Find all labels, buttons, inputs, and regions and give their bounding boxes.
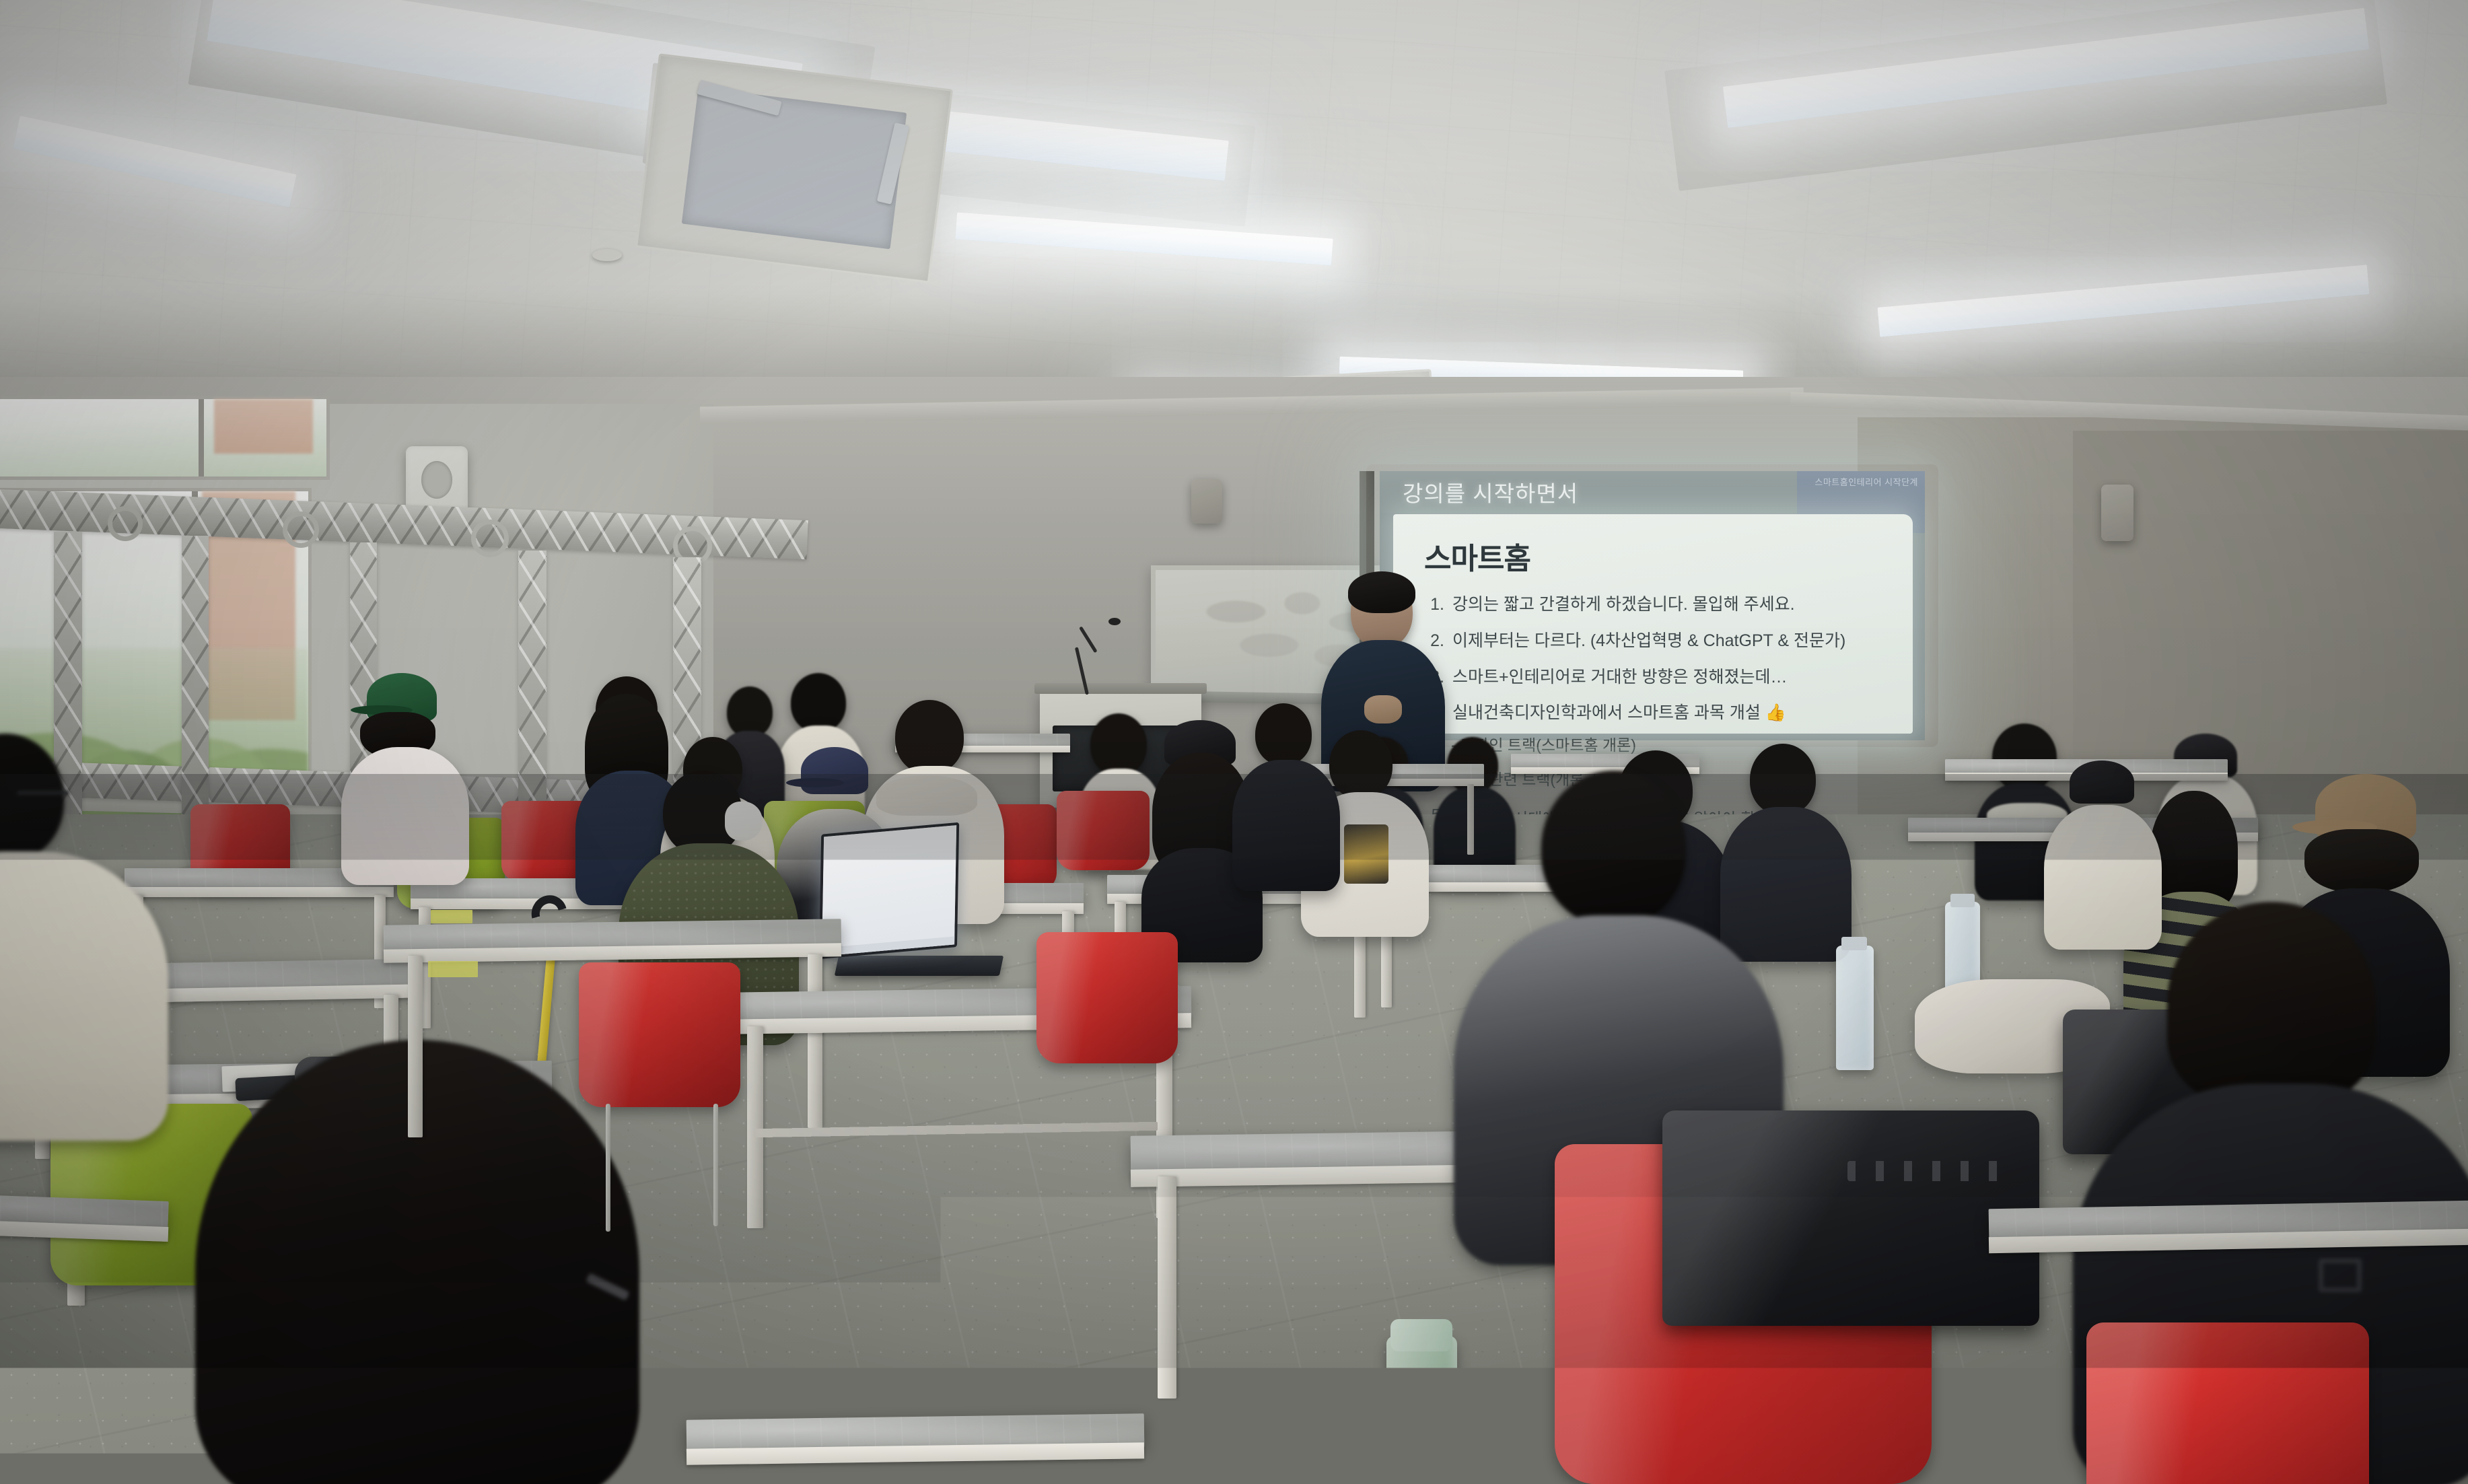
thermos-cap — [1390, 1319, 1452, 1351]
shirt-graphic-print — [1344, 824, 1388, 884]
classroom-photo: 강의를 시작하면서 스마트홈인테리어 시작단계 스마트홈 1. 강의는 짧고 간… — [0, 0, 2468, 1484]
laptop-screen-content — [822, 825, 956, 956]
student-head — [1329, 730, 1392, 799]
slide-bullet: 2. 이제부터는 다르다. (4차산업혁명 & ChatGPT & 전문가) — [1424, 631, 1895, 651]
slide-corner-text: 스마트홈인테리어 시작단계 — [1797, 471, 1925, 488]
student-head — [895, 700, 964, 774]
water-bottle[interactable] — [1836, 946, 1874, 1070]
student-eyeglasses-icon — [17, 791, 69, 799]
slide-content-area: 스마트홈 1. 강의는 짧고 간결하게 하겠습니다. 몰입해 주세요. 2. 이… — [1393, 514, 1913, 734]
slide-bullet-list: 1. 강의는 짧고 간결하게 하겠습니다. 몰입해 주세요. 2. 이제부터는 … — [1424, 595, 1895, 723]
cap-brim — [786, 778, 844, 787]
chair[interactable] — [1057, 791, 1150, 870]
student-head — [1992, 723, 2057, 791]
shirt-logo-icon — [2319, 1259, 2362, 1292]
window-glass — [0, 399, 326, 476]
student-head — [1255, 703, 1312, 765]
student-hair — [2167, 902, 2376, 1104]
ac-diffuser — [635, 53, 953, 283]
desk-edge — [125, 887, 394, 897]
student-head — [791, 673, 846, 732]
desk-leg — [1467, 784, 1474, 855]
smoke-detector-icon — [592, 249, 622, 261]
truss-post — [182, 536, 209, 818]
student-head — [1090, 713, 1147, 775]
lectern-top-edge — [1034, 683, 1207, 694]
truss-ring — [471, 520, 509, 557]
slide-title: 스마트홈 — [1424, 534, 1895, 577]
bottle-cap — [1841, 937, 1867, 950]
microphone-head — [1108, 618, 1121, 625]
ac-diffuser-inner — [681, 87, 907, 249]
student-torso — [1720, 807, 1852, 962]
bag-buckle-row — [1847, 1161, 1999, 1181]
chair-bottom-right[interactable] — [2086, 1322, 2369, 1484]
chair-foreground[interactable] — [579, 962, 740, 1107]
desk-leg — [747, 1026, 763, 1228]
chair-leg — [713, 1104, 718, 1226]
wall-speaker-right — [2101, 485, 2134, 541]
thermos-tumbler[interactable] — [1386, 1336, 1457, 1484]
hoodie-hood — [876, 775, 977, 816]
desk-label-sticker — [428, 961, 478, 977]
bullet-text: 이제부터는 다르다. (4차산업혁명 & ChatGPT & 전문가) — [1452, 631, 1845, 651]
window-view-building — [214, 399, 313, 454]
student-torso — [2044, 805, 2162, 950]
chair-foreground[interactable] — [1036, 932, 1178, 1063]
desk-leg — [408, 956, 423, 1137]
student-head — [727, 686, 773, 738]
slide-bullet: 1. 강의는 짧고 간결하게 하겠습니다. 몰입해 주세요. — [1424, 595, 1895, 614]
slide-bullet: 4. 실내건축디자인학과에서 스마트홈 과목 개설 👍 — [1424, 703, 1895, 723]
student-head — [1541, 771, 1686, 925]
leather-bag — [1662, 1110, 2039, 1326]
window-upper — [0, 396, 330, 480]
student-torso — [1232, 760, 1340, 891]
desk-label-sticker — [431, 910, 472, 923]
slide-sub-item: - 디자인 트랙(스마트홈 개론) — [1451, 732, 1895, 755]
bullet-text: 강의는 짧고 간결하게 하겠습니다. 몰입해 주세요. — [1452, 595, 1795, 614]
student-cap-black — [2070, 761, 2134, 804]
window-mullion — [199, 399, 204, 476]
speaker-cone — [421, 461, 452, 499]
desk-leg — [1158, 1176, 1176, 1399]
bottle-cap — [1950, 894, 1975, 907]
presenter-hair — [1348, 571, 1415, 613]
truss-post — [518, 551, 547, 820]
bullet-text: 스마트+인테리어로 거대한 방향은 정해졌는데… — [1452, 668, 1787, 687]
laptop-keyboard-base[interactable] — [835, 956, 1003, 976]
wall-speaker-center — [1191, 479, 1222, 524]
bullet-text: 실내건축디자인학과에서 스마트홈 과목 개설 👍 — [1452, 703, 1786, 723]
truss-ring — [283, 511, 319, 548]
chair-leg — [606, 1104, 610, 1232]
desk-leg — [808, 954, 822, 1128]
projection-screen: 강의를 시작하면서 스마트홈인테리어 시작단계 스마트홈 1. 강의는 짧고 간… — [1380, 471, 1925, 740]
student-hair — [2304, 829, 2419, 893]
student-face-mask — [725, 802, 763, 841]
presenter-hands — [1364, 695, 1402, 723]
slide-header-title: 강의를 시작하면서 — [1380, 476, 1578, 508]
truss-ring — [108, 506, 143, 541]
slide-bullet: 3. 스마트+인테리어로 거대한 방향은 정해졌는데… — [1424, 668, 1895, 687]
student-torso — [341, 747, 469, 885]
student-head — [1750, 744, 1816, 815]
